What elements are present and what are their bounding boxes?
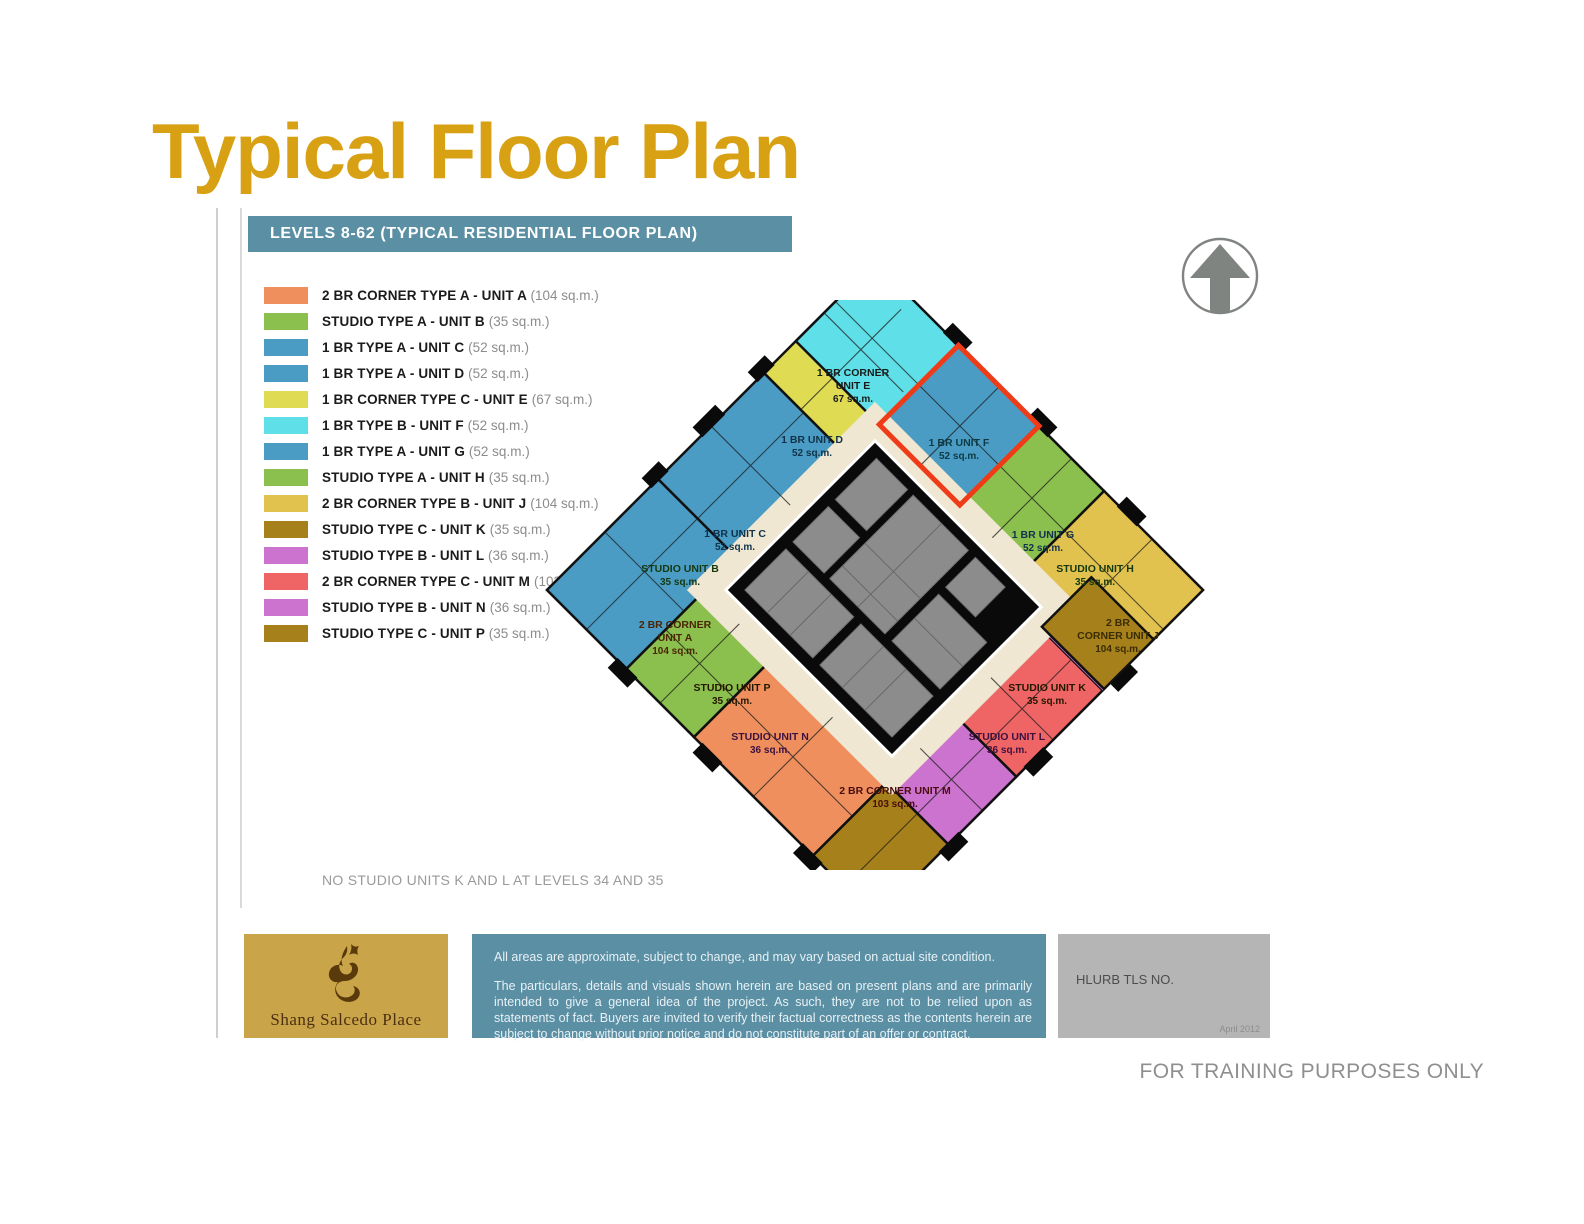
- floor-plan-drawing: 1 BR CORNER UNIT E 67 sq.m. 1 BR UNIT D …: [470, 300, 1280, 870]
- levels-header-label: LEVELS 8-62 (TYPICAL RESIDENTIAL FLOOR P…: [248, 216, 792, 243]
- legend-swatch: [264, 287, 308, 304]
- unit-label-G-area: 52 sq.m.: [1023, 543, 1063, 554]
- legend-swatch: [264, 573, 308, 590]
- unit-label-E-line2: UNIT E: [836, 380, 870, 392]
- legend-swatch: [264, 417, 308, 434]
- unit-label-A-line2: UNIT A: [658, 632, 693, 644]
- legend-swatch: [264, 495, 308, 512]
- unit-label-D-area: 52 sq.m.: [792, 448, 832, 459]
- unit-label-C-line1: 1 BR UNIT C: [704, 528, 766, 540]
- brand-logo-box: Shang Salcedo Place: [244, 934, 448, 1038]
- legend-swatch: [264, 443, 308, 460]
- unit-label-B-line1: STUDIO UNIT B: [641, 563, 719, 575]
- hlurb-date: April 2012: [1219, 1024, 1260, 1034]
- hlurb-label: HLURB TLS NO.: [1076, 972, 1174, 987]
- unit-label-J-line1: 2 BR: [1106, 617, 1130, 629]
- unit-label-G-line1: 1 BR UNIT G: [1012, 529, 1074, 541]
- unit-label-M-area: 103 sq.m.: [872, 799, 918, 810]
- unit-label-L-area: 36 sq.m.: [987, 745, 1027, 756]
- unit-label-F-area: 52 sq.m.: [939, 451, 979, 462]
- legend-swatch: [264, 547, 308, 564]
- unit-label-K-line1: STUDIO UNIT K: [1008, 682, 1086, 694]
- plan-note: NO STUDIO UNITS K AND L AT LEVELS 34 AND…: [322, 872, 664, 888]
- legend-swatch: [264, 625, 308, 642]
- disclaimer-box: All areas are approximate, subject to ch…: [472, 934, 1046, 1038]
- shang-swirl-logo-icon: [307, 942, 385, 1009]
- unit-label-H-line1: STUDIO UNIT H: [1056, 563, 1134, 575]
- page-title: Typical Floor Plan: [152, 112, 800, 190]
- training-purposes-note: FOR TRAINING PURPOSES ONLY: [1139, 1060, 1484, 1084]
- unit-label-A-line1: 2 BR CORNER: [639, 619, 712, 631]
- legend-swatch: [264, 521, 308, 538]
- unit-label-N-area: 36 sq.m.: [750, 745, 790, 756]
- hlurb-box: HLURB TLS NO. April 2012: [1058, 934, 1270, 1038]
- brand-name: Shang Salcedo Place: [244, 1010, 448, 1030]
- unit-label-C-area: 52 sq.m.: [715, 542, 755, 553]
- disclaimer-line-1: All areas are approximate, subject to ch…: [494, 950, 1032, 966]
- disclaimer-line-2: The particulars, details and visuals sho…: [494, 978, 1032, 1042]
- unit-label-D-line1: 1 BR UNIT D: [781, 434, 843, 446]
- unit-label-F-line1: 1 BR UNIT F: [929, 437, 990, 449]
- legend-swatch: [264, 391, 308, 408]
- unit-label-E-line1: 1 BR CORNER: [817, 367, 890, 379]
- unit-label-L-line1: STUDIO UNIT L: [969, 731, 1046, 743]
- unit-label-M-line1: 2 BR CORNER UNIT M: [839, 785, 951, 797]
- unit-label-A-area: 104 sq.m.: [652, 646, 698, 657]
- legend-swatch: [264, 469, 308, 486]
- unit-label-K-area: 35 sq.m.: [1027, 696, 1067, 707]
- unit-label-E-area: 67 sq.m.: [833, 394, 873, 405]
- levels-header-bar: LEVELS 8-62 (TYPICAL RESIDENTIAL FLOOR P…: [248, 216, 792, 252]
- legend-swatch: [264, 313, 308, 330]
- unit-label-B-area: 35 sq.m.: [660, 577, 700, 588]
- left-vertical-rule: [216, 208, 218, 1038]
- legend-swatch: [264, 365, 308, 382]
- unit-label-P-line1: STUDIO UNIT P: [693, 682, 770, 694]
- unit-label-P-area: 35 sq.m.: [712, 696, 752, 707]
- unit-label-N-line1: STUDIO UNIT N: [731, 731, 809, 743]
- legend-swatch: [264, 599, 308, 616]
- unit-label-J-line2: CORNER UNIT J: [1077, 630, 1159, 642]
- legend-swatch: [264, 339, 308, 356]
- unit-label-J-area: 104 sq.m.: [1095, 644, 1141, 655]
- unit-label-H-area: 35 sq.m.: [1075, 577, 1115, 588]
- floor-plan-svg: 1 BR CORNER UNIT E 67 sq.m. 1 BR UNIT D …: [470, 300, 1280, 870]
